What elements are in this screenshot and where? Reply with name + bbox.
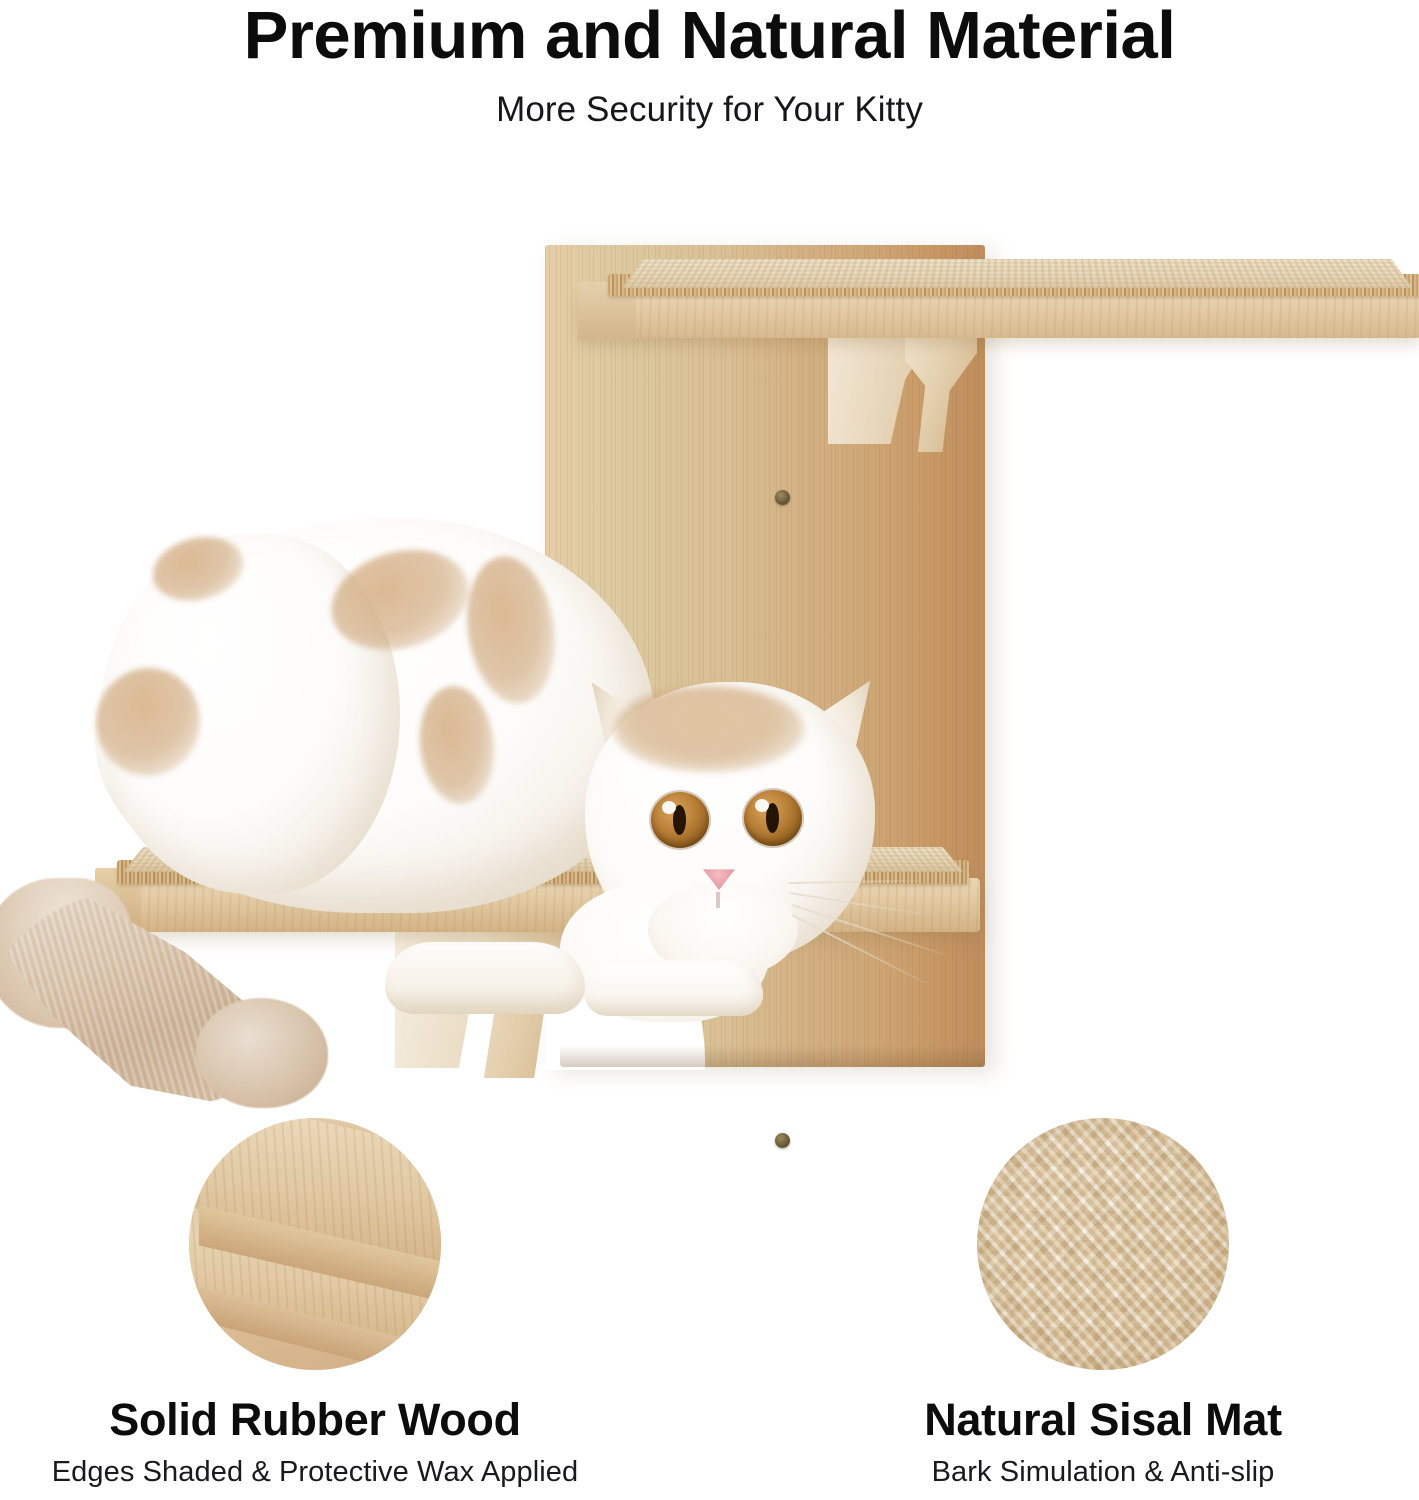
feature-subtitle: Edges Shaded & Protective Wax Applied <box>35 1457 595 1489</box>
wood-boards-swatch-image <box>189 1118 441 1370</box>
product-hero-image <box>0 190 1419 1110</box>
cat-front-paw <box>585 960 763 1016</box>
feature-natural-sisal-mat: Natural Sisal Mat Bark Simulation & Anti… <box>823 1118 1383 1489</box>
cat-tail-tip <box>196 998 328 1108</box>
cat-mouth <box>716 892 720 908</box>
cat-whisker <box>792 914 927 984</box>
page-subtitle: More Security for Your Kitty <box>0 70 1419 130</box>
cat-eye-glint <box>662 801 676 814</box>
upper-shelf <box>560 230 1419 360</box>
page-title: Premium and Natural Material <box>0 0 1419 70</box>
feature-title: Solid Rubber Wood <box>35 1396 595 1443</box>
cat-eye-glint <box>755 799 769 812</box>
feature-title: Natural Sisal Mat <box>823 1396 1383 1443</box>
header: Premium and Natural Material More Securi… <box>0 0 1419 130</box>
feature-solid-rubber-wood: Solid Rubber Wood Edges Shaded & Protect… <box>35 1118 595 1489</box>
cat-head-marking <box>614 686 804 772</box>
cat-tail <box>0 878 372 1128</box>
upper-shelf-sisal-mat <box>622 259 1412 288</box>
sisal-weave-swatch-image <box>977 1118 1229 1370</box>
mounting-screw-icon <box>775 1133 790 1148</box>
cat <box>0 490 960 1130</box>
feature-subtitle: Bark Simulation & Anti-slip <box>823 1457 1383 1489</box>
upper-shelf-board <box>578 290 1419 338</box>
cat-rear-paw <box>385 942 585 1014</box>
cat-eye-right <box>744 790 802 846</box>
cat-eye-left <box>651 792 709 848</box>
